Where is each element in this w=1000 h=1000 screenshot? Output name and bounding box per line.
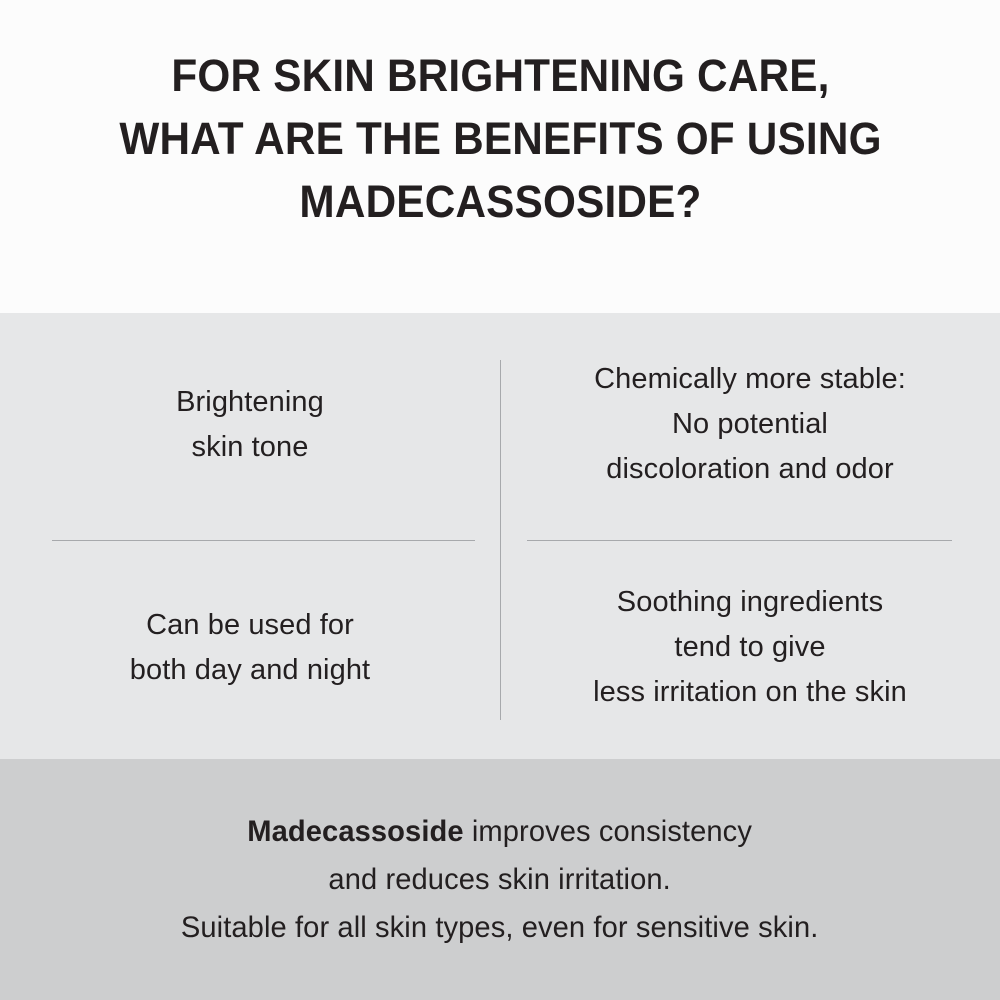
benefit-cell-soothing-ingredients: Soothing ingredients tend to give less i… (500, 536, 1000, 759)
footer-section: Madecassoside improves consistency and r… (0, 759, 1000, 1000)
benefit-cell-day-and-night-use: Can be used for both day and night (0, 536, 500, 759)
header-section: FOR SKIN BRIGHTENING CARE, WHAT ARE THE … (0, 0, 1000, 313)
benefit-line: Brightening (176, 380, 324, 425)
benefit-line: No potential (594, 402, 906, 447)
footer-line-2: and reduces skin irritation. (181, 856, 819, 904)
headline-line-1: FOR SKIN BRIGHTENING CARE, (119, 44, 881, 107)
footer-line-1: Madecassoside improves consistency (181, 808, 819, 856)
benefit-line: less irritation on the skin (593, 670, 907, 715)
footer-line-1-rest: improves consistency (464, 815, 752, 848)
benefit-text-brightening-skin-tone: Brightening skin tone (176, 380, 324, 470)
benefit-line: both day and night (130, 648, 370, 693)
divider-horizontal-right (527, 540, 952, 541)
benefit-text-soothing-ingredients: Soothing ingredients tend to give less i… (593, 580, 907, 715)
benefit-cell-chemically-more-stable: Chemically more stable: No potential dis… (500, 313, 1000, 536)
benefit-line: Chemically more stable: (594, 357, 906, 402)
divider-vertical (500, 360, 501, 720)
benefit-line: Soothing ingredients (593, 580, 907, 625)
headline-line-2: WHAT ARE THE BENEFITS OF USING (119, 107, 881, 170)
page-title: FOR SKIN BRIGHTENING CARE, WHAT ARE THE … (119, 44, 881, 233)
benefit-text-chemically-more-stable: Chemically more stable: No potential dis… (594, 357, 906, 492)
footer-line-3: Suitable for all skin types, even for se… (181, 904, 819, 952)
benefit-line: tend to give (593, 625, 907, 670)
benefit-cell-brightening-skin-tone: Brightening skin tone (0, 313, 500, 536)
benefits-section: Brightening skin tone Chemically more st… (0, 313, 1000, 759)
infographic-root: FOR SKIN BRIGHTENING CARE, WHAT ARE THE … (0, 0, 1000, 1000)
footer-summary-text: Madecassoside improves consistency and r… (181, 808, 819, 952)
headline-line-3: MADECASSOSIDE? (119, 170, 881, 233)
ingredient-name: Madecassoside (248, 815, 464, 848)
benefit-text-day-and-night-use: Can be used for both day and night (130, 603, 370, 693)
benefit-line: discoloration and odor (594, 447, 906, 492)
divider-horizontal-left (52, 540, 475, 541)
benefit-line: Can be used for (130, 603, 370, 648)
benefit-line: skin tone (176, 425, 324, 470)
